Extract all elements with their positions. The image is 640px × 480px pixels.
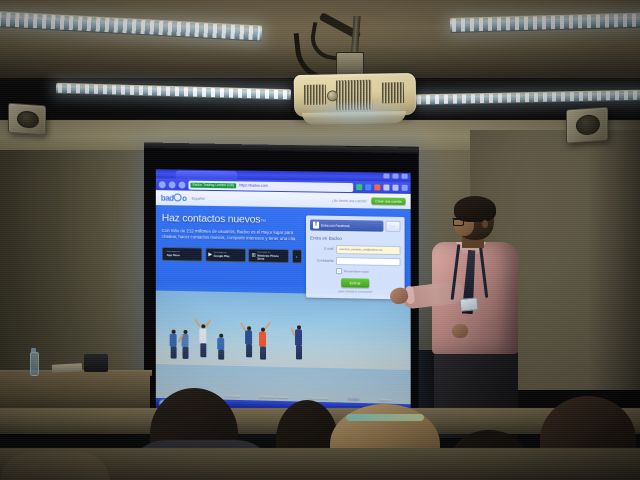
password-input[interactable] — [336, 257, 400, 267]
password-label: Contraseña — [310, 258, 333, 262]
hero-body-text: Con más de 212 millones de usuarios, Bad… — [162, 228, 302, 243]
presenter — [404, 196, 549, 436]
lecture-hall-scene: Badoo Trading Limited (GB) https://badoo… — [0, 0, 640, 480]
email-input[interactable]: nombre_usuario_uni@adeno.es — [336, 245, 400, 255]
maximize-icon[interactable] — [392, 174, 398, 179]
password-field-row: Contraseña — [310, 256, 401, 266]
extension-icon[interactable] — [356, 184, 362, 190]
extension-icon[interactable] — [374, 184, 380, 190]
email-field-row: E-mail nombre_usuario_uni@adeno.es — [310, 245, 401, 255]
minimize-icon[interactable] — [383, 173, 389, 178]
home-icon[interactable] — [179, 181, 186, 188]
presenter-ear — [482, 220, 488, 228]
badoo-page: bado Español ¿No tienes una cuenta? Crea… — [156, 190, 411, 414]
forgot-password-link[interactable]: ¿Has olvidado tu contraseña? — [310, 289, 401, 294]
hero-headline: Haz contactos nuevosTM — [162, 213, 302, 226]
corner-shadow — [588, 120, 640, 410]
presenter-hand — [452, 324, 468, 338]
more-stores-button[interactable]: › — [291, 250, 301, 264]
login-submit-button[interactable]: Entrar — [341, 278, 370, 288]
back-icon[interactable] — [159, 181, 166, 188]
audience-shoulders — [0, 452, 110, 480]
papers — [52, 363, 82, 373]
projector-vent — [382, 82, 404, 103]
store-name: Windows Phone Store — [257, 254, 285, 261]
app-store-buttons: Descargar en App Store ▶ Descargar en Go… — [162, 247, 302, 263]
hero-right-column: f Entra con Facebook ⋯ Entra en Badoo E-… — [302, 215, 405, 414]
remember-me-row[interactable]: ✓ Recuérdame todos — [336, 268, 400, 275]
app-store-button[interactable]: Descargar en App Store — [162, 247, 203, 261]
facebook-login-button[interactable]: f Entra con Facebook — [310, 219, 383, 231]
language-selector[interactable]: Español — [192, 196, 205, 200]
hair-band — [346, 414, 424, 421]
hero-section: eBay TC TechCrunch BUSINESS INSIDER The … — [156, 205, 411, 414]
more-login-options-button[interactable]: ⋯ — [385, 221, 400, 232]
store-name: App Store — [167, 254, 180, 257]
google-play-button[interactable]: ▶ Descargar en Google Play — [205, 248, 246, 262]
presenter-badge — [459, 297, 478, 312]
projector-vent — [304, 85, 326, 105]
hero-left-column: Haz contactos nuevosTM Con más de 212 mi… — [162, 213, 302, 411]
trademark-mark: TM — [260, 218, 265, 223]
login-panel: f Entra con Facebook ⋯ Entra en Badoo E-… — [306, 215, 405, 299]
create-account-button[interactable]: Crear una cuenta — [371, 197, 406, 205]
facebook-icon: f — [313, 222, 319, 229]
menu-icon[interactable] — [402, 185, 408, 191]
water-bottle — [30, 352, 39, 376]
close-icon[interactable] — [402, 174, 408, 179]
window-controls[interactable] — [383, 173, 407, 178]
hero-content: Haz contactos nuevosTM Con más de 212 mi… — [156, 205, 411, 414]
store-name: Google Play — [214, 255, 230, 258]
windows-icon: ⊞ — [252, 253, 256, 259]
facebook-login-label: Entra con Facebook — [321, 223, 350, 227]
submit-row: Entrar — [310, 278, 401, 289]
wall-speaker-right — [566, 107, 608, 144]
address-bar[interactable]: Badoo Trading Limited (GB) https://badoo… — [188, 180, 353, 191]
header-right: ¿No tienes una cuenta? Crear una cuenta — [332, 197, 406, 205]
url-text: https://badoo.com — [239, 183, 267, 187]
extension-icon[interactable] — [392, 185, 398, 191]
wall-speaker-left — [8, 103, 46, 136]
no-account-text: ¿No tienes una cuenta? — [332, 198, 367, 203]
browser-window: Badoo Trading Limited (GB) https://badoo… — [156, 169, 411, 414]
extension-icon[interactable] — [383, 185, 389, 191]
email-label: E-mail — [310, 247, 333, 251]
extension-icon[interactable] — [365, 184, 371, 190]
lectern — [0, 372, 150, 412]
remember-label: Recuérdame todos — [344, 269, 369, 273]
projection-screen: Badoo Trading Limited (GB) https://badoo… — [144, 143, 419, 423]
left-wall — [0, 150, 150, 390]
laptop — [84, 354, 108, 372]
reload-icon[interactable] — [169, 181, 176, 188]
remember-checkbox[interactable]: ✓ — [336, 268, 342, 274]
windows-store-button[interactable]: ⊞ Descargar en Windows Phone Store — [248, 249, 289, 263]
projector-glow — [296, 104, 414, 128]
badoo-logo[interactable]: bado — [161, 193, 187, 203]
android-icon: ▶ — [208, 252, 212, 258]
login-title: Entra en Badoo — [310, 236, 401, 243]
ssl-badge: Badoo Trading Limited (GB) — [190, 182, 236, 188]
social-login-row: f Entra con Facebook ⋯ — [310, 219, 401, 232]
glasses-icon — [452, 218, 474, 224]
